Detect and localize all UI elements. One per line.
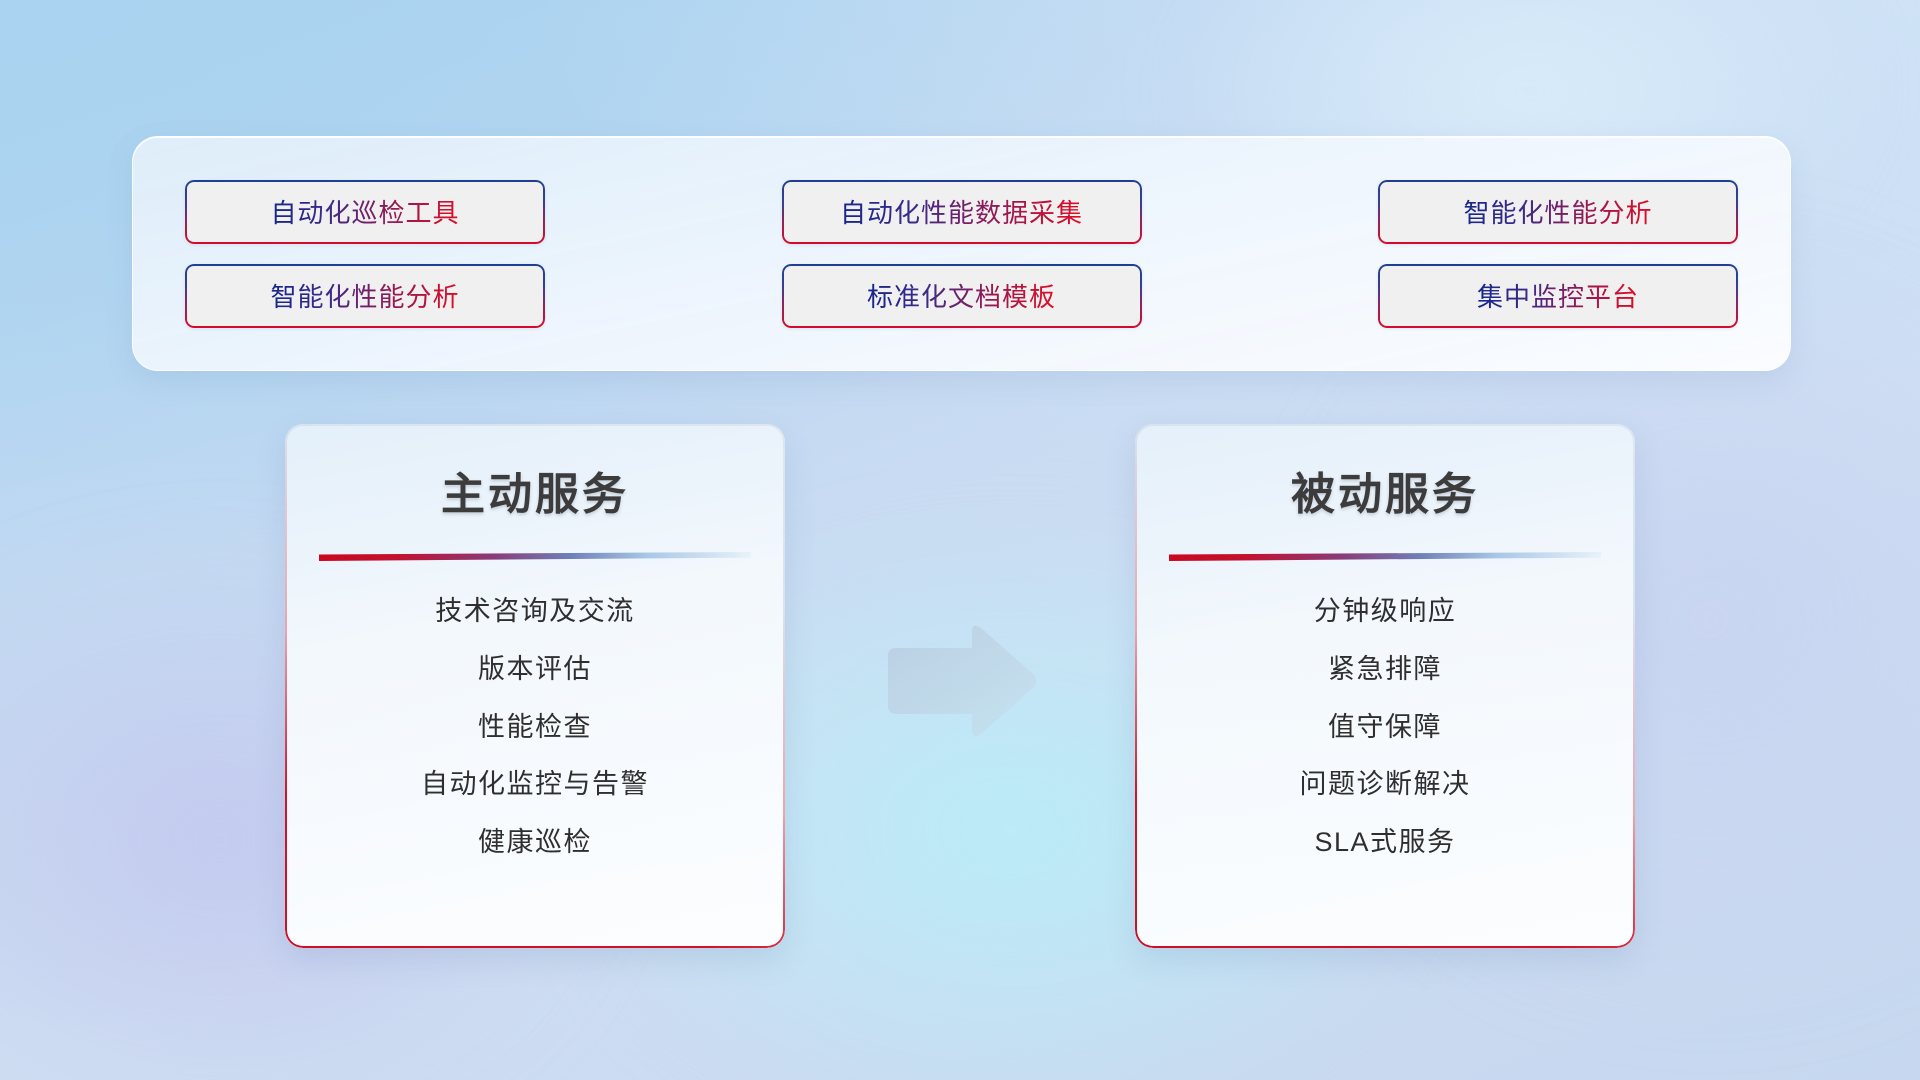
card-divider xyxy=(1169,552,1601,561)
list-item: 分钟级响应 xyxy=(1169,593,1601,631)
tool-pill-label: 标准化文档模板 xyxy=(867,277,1056,314)
list-item: 技术咨询及交流 xyxy=(319,593,751,631)
list-item: 问题诊断解决 xyxy=(1169,766,1601,804)
tool-pill-label: 自动化性能数据采集 xyxy=(840,193,1083,230)
service-card-proactive: 主动服务 技术咨询及交流 版本评估 性能检查 自动化监控与告警 健康巡检 xyxy=(285,424,785,948)
tools-row-2: 智能化性能分析 标准化文档模板 集中监控平台 xyxy=(185,264,1738,328)
list-item: 性能检查 xyxy=(319,709,751,747)
tool-pill-standard-doc-template[interactable]: 标准化文档模板 xyxy=(782,264,1142,328)
tool-pill-centralized-monitoring[interactable]: 集中监控平台 xyxy=(1378,264,1738,328)
list-item: 紧急排障 xyxy=(1169,651,1601,689)
list-item: 自动化监控与告警 xyxy=(319,766,751,804)
tool-pill-automation-inspection[interactable]: 自动化巡检工具 xyxy=(185,180,545,244)
card-list-reactive: 分钟级响应 紧急排障 值守保障 问题诊断解决 SLA式服务 xyxy=(1169,593,1601,862)
tool-pill-intelligent-performance-analysis-2[interactable]: 智能化性能分析 xyxy=(185,264,545,328)
tools-panel: 自动化巡检工具 自动化性能数据采集 智能化性能分析 智能化性能分析 标准化文档模… xyxy=(132,136,1791,371)
card-title-reactive: 被动服务 xyxy=(1291,458,1479,522)
list-item: SLA式服务 xyxy=(1169,824,1601,862)
card-inner: 主动服务 技术咨询及交流 版本评估 性能检查 自动化监控与告警 健康巡检 xyxy=(285,424,785,948)
tool-pill-label: 智能化性能分析 xyxy=(1463,193,1652,230)
service-card-reactive: 被动服务 分钟级响应 紧急排障 值守保障 问题诊断解决 SLA式服务 xyxy=(1135,424,1635,948)
card-inner: 被动服务 分钟级响应 紧急排障 值守保障 问题诊断解决 SLA式服务 xyxy=(1135,424,1635,948)
tool-pill-label: 智能化性能分析 xyxy=(270,277,459,314)
list-item: 值守保障 xyxy=(1169,709,1601,747)
right-arrow-icon xyxy=(880,622,1040,740)
list-item: 健康巡检 xyxy=(319,824,751,862)
tool-pill-label: 集中监控平台 xyxy=(1477,277,1639,314)
tool-pill-automation-performance-data[interactable]: 自动化性能数据采集 xyxy=(782,180,1142,244)
card-title-proactive: 主动服务 xyxy=(441,458,629,522)
tools-row-1: 自动化巡检工具 自动化性能数据采集 智能化性能分析 xyxy=(185,180,1738,244)
card-divider xyxy=(319,552,751,561)
tool-pill-label: 自动化巡检工具 xyxy=(270,193,459,230)
tool-pill-intelligent-performance-analysis[interactable]: 智能化性能分析 xyxy=(1378,180,1738,244)
card-list-proactive: 技术咨询及交流 版本评估 性能检查 自动化监控与告警 健康巡检 xyxy=(319,593,751,862)
list-item: 版本评估 xyxy=(319,651,751,689)
